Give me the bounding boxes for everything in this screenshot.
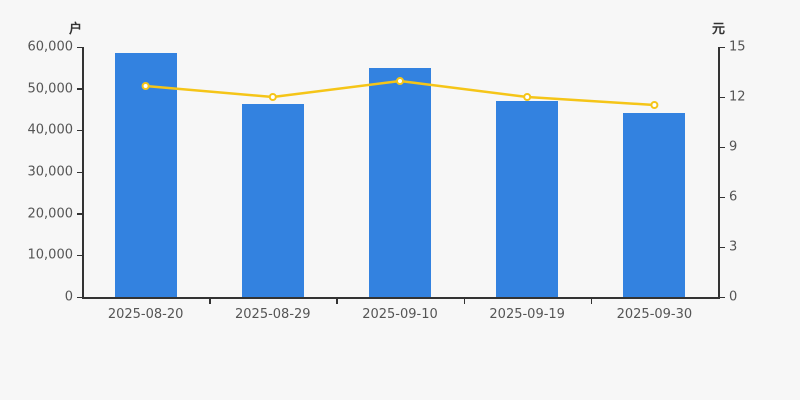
left-axis-tick-mark <box>77 88 82 90</box>
right-axis-tick-mark <box>720 247 725 249</box>
bar[interactable] <box>369 68 431 297</box>
x-axis-tick-label: 2025-09-30 <box>617 307 693 322</box>
left-axis-tick-label: 20,000 <box>28 207 74 220</box>
right-axis-tick-mark <box>720 197 725 199</box>
x-axis-tick-mark <box>464 299 466 304</box>
bar[interactable] <box>496 101 558 297</box>
bar[interactable] <box>623 113 685 297</box>
right-axis-tick-label: 0 <box>729 291 737 304</box>
x-axis-tick-label: 2025-08-20 <box>108 307 184 322</box>
right-axis-tick-label: 6 <box>729 191 737 204</box>
x-axis-tick-label: 2025-09-10 <box>362 307 438 322</box>
right-axis-tick-mark <box>720 147 725 149</box>
left-axis-tick-label: 30,000 <box>28 166 74 179</box>
left-axis-tick-mark <box>77 130 82 132</box>
right-axis-spine <box>718 47 720 297</box>
left-axis-tick-label: 60,000 <box>28 41 74 54</box>
x-axis-tick-mark <box>336 299 338 304</box>
left-axis-tick-label: 50,000 <box>28 82 74 95</box>
bar[interactable] <box>242 104 304 297</box>
right-axis-tick-label: 12 <box>729 91 746 104</box>
left-axis-tick-mark <box>77 172 82 174</box>
line-marker[interactable] <box>651 102 657 108</box>
x-axis-tick-label: 2025-08-29 <box>235 307 311 322</box>
left-axis-tick-label: 0 <box>65 291 73 304</box>
line-marker[interactable] <box>524 94 530 100</box>
left-axis-tick-label: 10,000 <box>28 249 74 262</box>
right-axis-tick-label: 15 <box>729 41 746 54</box>
bar[interactable] <box>115 53 177 297</box>
left-axis-tick-mark <box>77 255 82 257</box>
x-axis-tick-mark <box>209 299 211 304</box>
x-axis-tick-mark <box>591 299 593 304</box>
right-axis-tick-mark <box>720 297 725 299</box>
right-axis-tick-label: 9 <box>729 141 737 154</box>
left-axis-tick-mark <box>77 47 82 49</box>
left-axis-tick-label: 40,000 <box>28 124 74 137</box>
left-axis-spine <box>82 47 84 297</box>
right-axis-tick-mark <box>720 97 725 99</box>
x-axis-spine <box>82 297 720 299</box>
x-axis-tick-label: 2025-09-19 <box>489 307 565 322</box>
left-axis-unit-label: 户 <box>69 18 82 37</box>
chart-container: 户 元 010,00020,00030,00040,00050,00060,00… <box>0 0 800 400</box>
right-axis-tick-label: 3 <box>729 241 737 254</box>
right-axis-tick-mark <box>720 47 725 49</box>
right-axis-unit-label: 元 <box>712 18 725 37</box>
line-marker[interactable] <box>270 94 276 100</box>
left-axis-tick-mark <box>77 213 82 215</box>
